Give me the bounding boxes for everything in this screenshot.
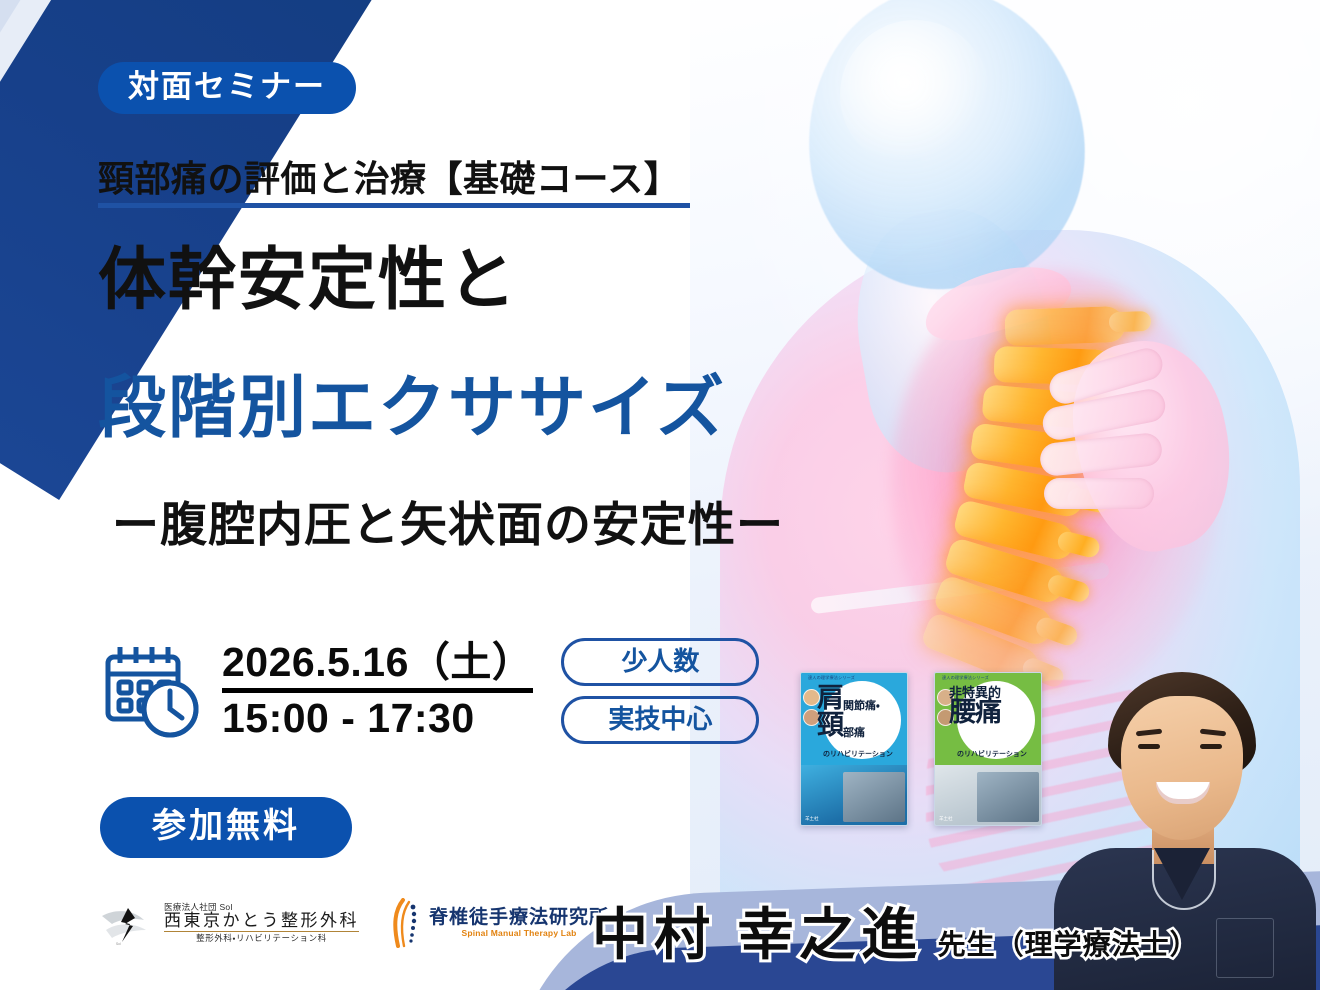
seminar-time: 15:00 - 17:30	[222, 696, 533, 742]
schedule-divider	[222, 688, 533, 693]
seminar-format-badge: 対面セミナー	[98, 62, 356, 114]
course-name: 頸部痛の評価と治療【基礎コース】	[98, 150, 680, 202]
speaker-title: 先生（理学療法士）	[938, 923, 1199, 963]
bird-logo-icon: Sol	[100, 900, 158, 946]
seminar-date: 2026.5.16（土）	[222, 640, 533, 686]
title-line-3: ー腹腔内圧と矢状面の安定性ー	[112, 500, 784, 549]
tag-practical: 実技中心	[561, 696, 759, 744]
free-participation-button[interactable]: 参加無料	[100, 797, 352, 858]
speaker-name: 中村 幸之進	[592, 890, 924, 971]
logo-2-text: 脊椎徒手療法研究所 Spinal Manual Therapy Lab	[429, 908, 609, 938]
logo-1-line3: 整形外科・リハビリテーション科	[164, 932, 359, 943]
tag-small-group: 少人数	[561, 638, 759, 686]
logo-1-text: 医療法人社団 Sol 西東京かとう整形外科 整形外科・リハビリテーション科	[164, 903, 359, 943]
logo-nishitokyo-kato: Sol 医療法人社団 Sol 西東京かとう整形外科 整形外科・リハビリテーション…	[100, 900, 359, 946]
spine-logo-icon	[389, 898, 423, 948]
logo-spinal-manual-therapy-lab: 脊椎徒手療法研究所 Spinal Manual Therapy Lab	[389, 898, 609, 948]
schedule-row: 2026.5.16（土） 15:00 - 17:30 少人数 実技中心	[100, 638, 759, 744]
banner-content: 対面セミナー 頸部痛の評価と治療【基礎コース】 体幹安定性と 段階別エクササイズ…	[0, 0, 1320, 990]
course-underline	[98, 203, 690, 208]
schedule-text: 2026.5.16（土） 15:00 - 17:30	[222, 640, 533, 742]
logo-1-line2: 西東京かとう整形外科	[164, 912, 359, 932]
calendar-clock-icon	[100, 641, 204, 741]
svg-text:Sol: Sol	[116, 942, 121, 946]
title-line-1: 体幹安定性と	[98, 245, 518, 316]
feature-tags: 少人数 実技中心	[561, 638, 759, 744]
speaker-name-block: 中村 幸之進 先生（理学療法士）	[592, 890, 1199, 971]
title-line-2: 段階別エクササイズ	[98, 373, 726, 444]
logo-2-line1: 脊椎徒手療法研究所	[429, 908, 609, 929]
seminar-banner: 達人の理学療法シリーズ 肩関節痛・ 頸部痛 のリハビリテーション 羊土社 達人の…	[0, 0, 1320, 990]
organizer-logos: Sol 医療法人社団 Sol 西東京かとう整形外科 整形外科・リハビリテーション…	[100, 898, 609, 948]
logo-2-line2: Spinal Manual Therapy Lab	[429, 929, 609, 938]
